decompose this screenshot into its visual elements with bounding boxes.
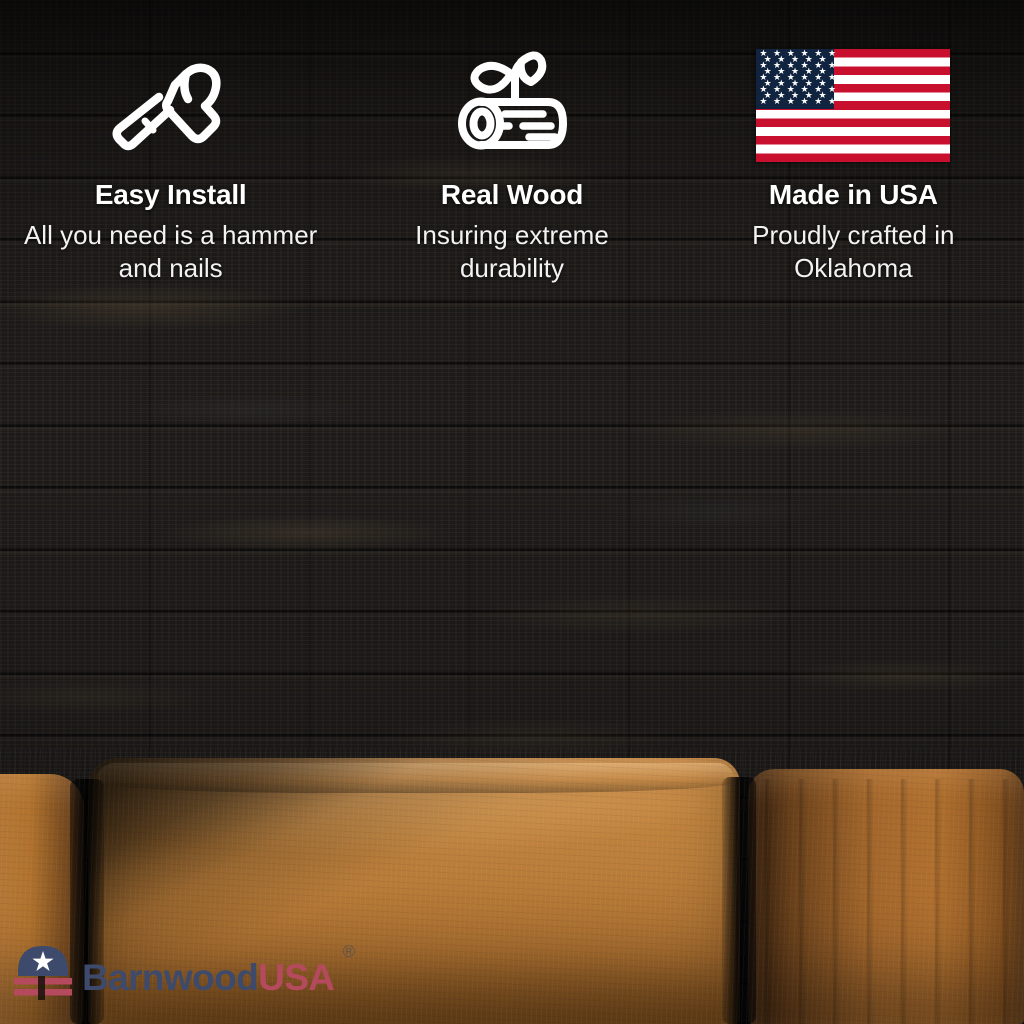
feature-description: Insuring extreme durability [362,219,662,286]
sofa-right-cushion-creases [748,779,1024,1024]
feature-description: Proudly crafted in Oklahoma [703,219,1003,286]
hammer-icon [112,44,230,166]
feature-easy-install: Easy Install All you need is a hammer an… [0,0,341,285]
us-flag: ★ ★ ★ ★ ★ ★ ★ ★ ★ ★ ★ ★ ★ ★ ★ ★ ★ ★ ★ ★ … [756,49,950,162]
brand-wordmark: BarnwoodUSA® [82,959,334,1000]
barn-flag-logo-icon [14,938,72,1000]
brand-name-primary: Barnwood [82,957,258,998]
brand-logo[interactable]: BarnwoodUSA® [14,938,334,1000]
flag-stars: ★ ★ ★ ★ ★ ★ ★ ★ ★ ★ ★ ★ ★ ★ ★ ★ ★ ★ ★ ★ … [756,49,950,162]
sofa-cushion-gap [722,777,756,1024]
wood-log-icon [445,44,579,166]
feature-made-in-usa: ★ ★ ★ ★ ★ ★ ★ ★ ★ ★ ★ ★ ★ ★ ★ ★ ★ ★ ★ ★ … [683,0,1024,285]
sofa-cushion-piping [96,763,734,793]
feature-title: Easy Install [95,180,247,211]
brand-name-secondary: USA [258,957,334,998]
feature-description: All you need is a hammer and nails [21,219,321,286]
registered-trademark-icon: ® [342,943,354,960]
feature-real-wood: Real Wood Insuring extreme durability [341,0,682,285]
feature-row: Easy Install All you need is a hammer an… [0,0,1024,285]
feature-title: Real Wood [441,180,583,211]
feature-title: Made in USA [769,180,938,211]
product-lifestyle-banner: Easy Install All you need is a hammer an… [0,0,1024,1024]
us-flag-icon: ★ ★ ★ ★ ★ ★ ★ ★ ★ ★ ★ ★ ★ ★ ★ ★ ★ ★ ★ ★ … [756,44,950,166]
